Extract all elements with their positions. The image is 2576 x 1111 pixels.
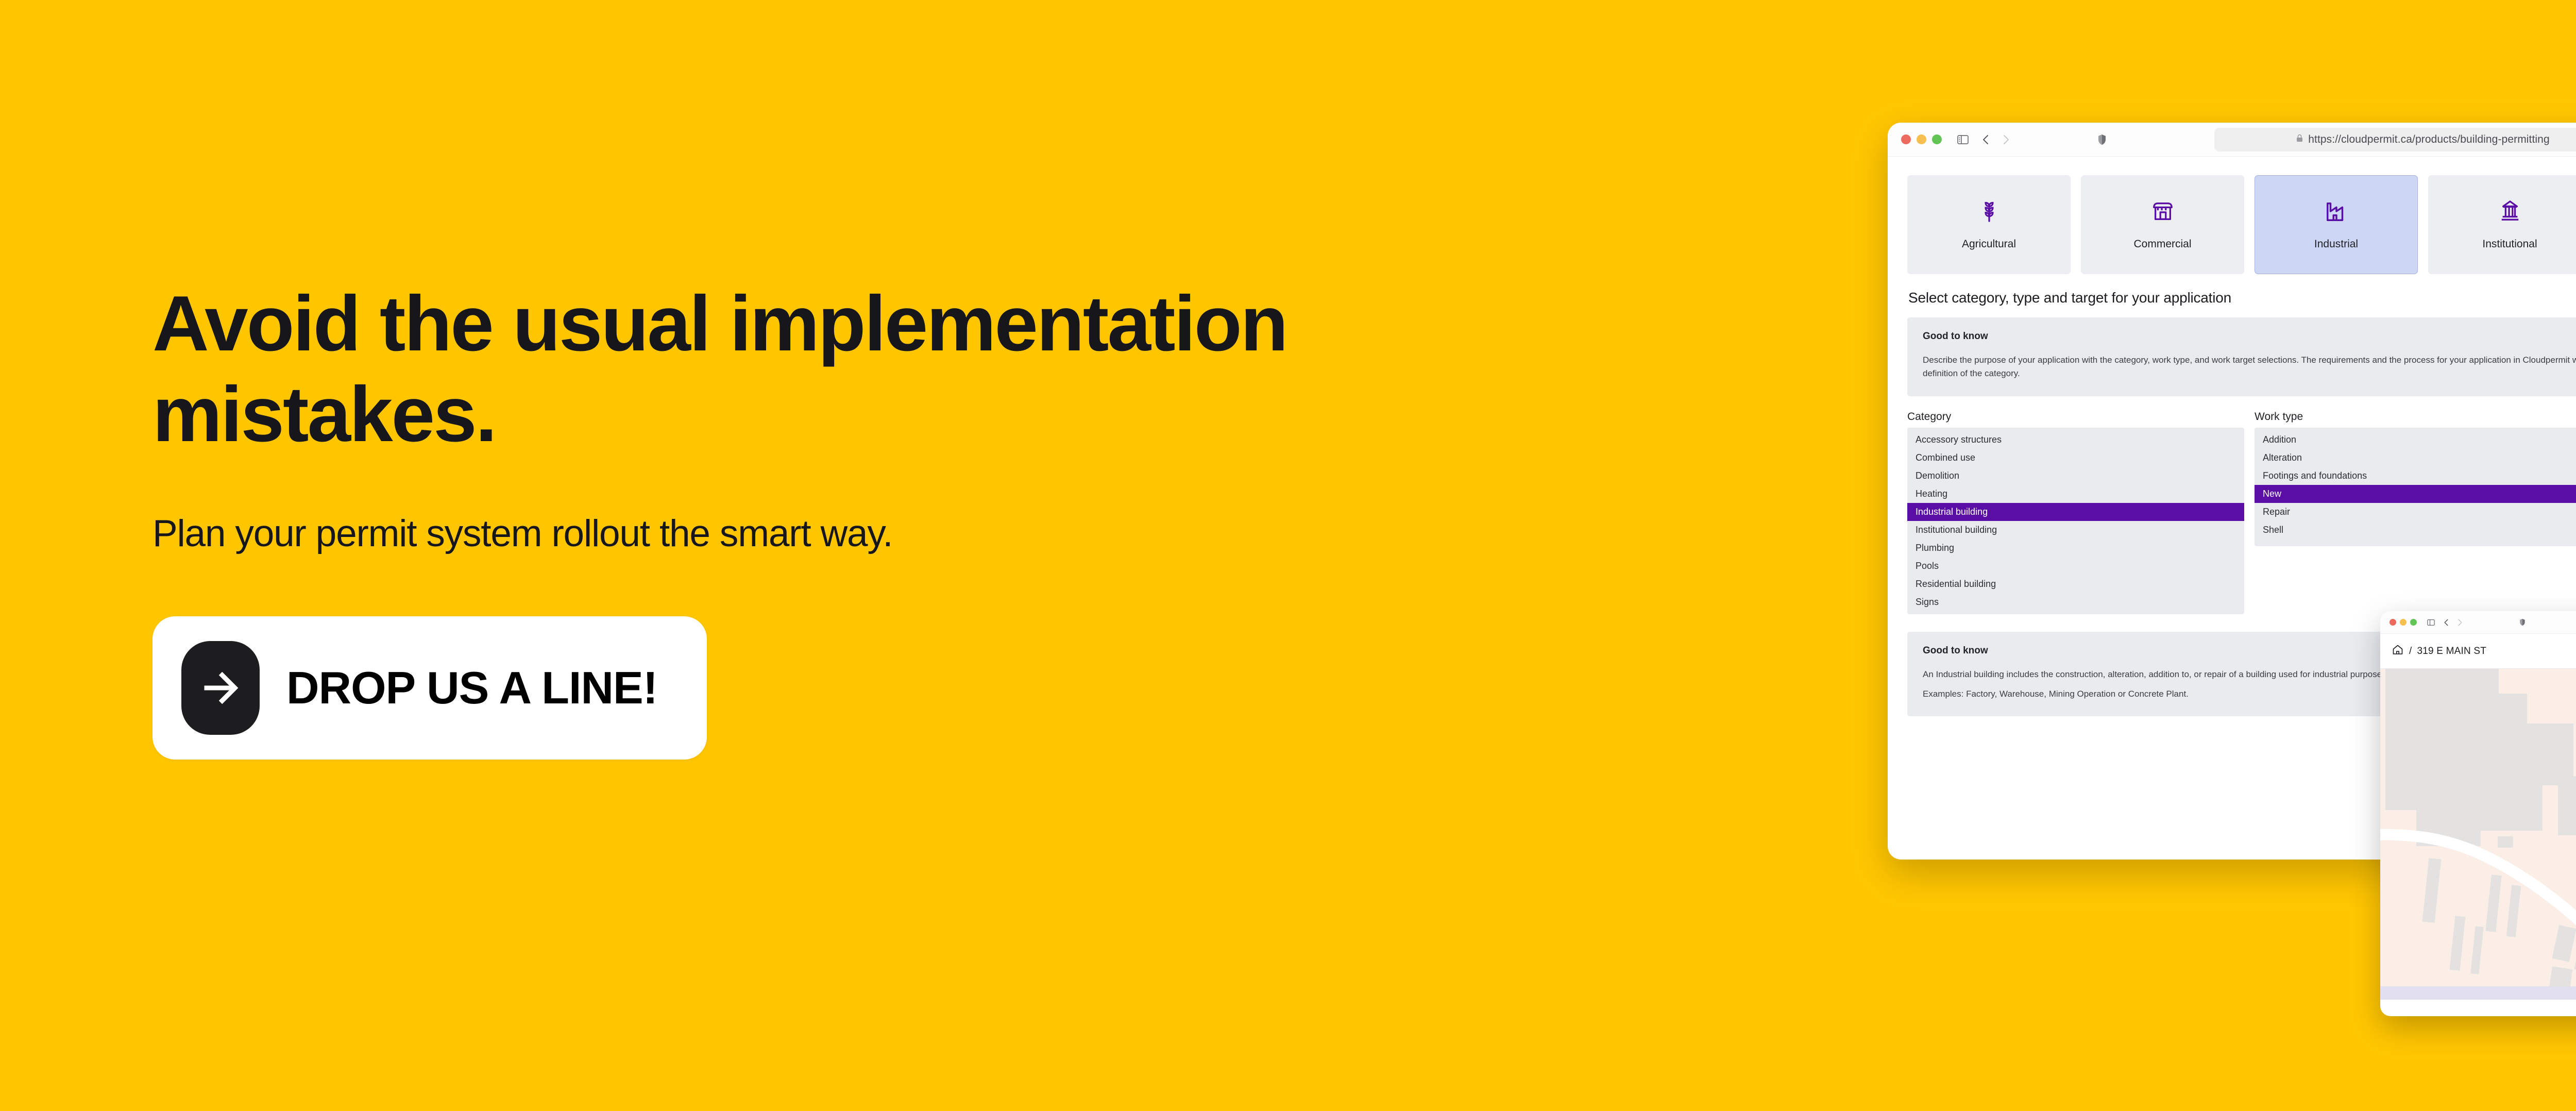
list-item[interactable]: Pools xyxy=(1907,557,2244,575)
sidebar-toggle-icon[interactable] xyxy=(1957,135,1969,144)
promo-block: Avoid the usual implementation mistakes.… xyxy=(152,278,1647,760)
page-subtitle: Plan your permit system rollout the smar… xyxy=(152,510,1647,559)
category-card-commercial[interactable]: Commercial xyxy=(2081,175,2244,274)
address-bar[interactable]: https://cloudpermit.ca/products/building… xyxy=(2214,128,2576,151)
list-item[interactable]: Accessory structures xyxy=(1907,431,2244,449)
chevron-right-icon xyxy=(2003,134,2010,145)
cta-label: DROP US A LINE! xyxy=(286,662,657,714)
list-item[interactable]: Alteration xyxy=(2255,449,2576,467)
list-item[interactable]: Residential building xyxy=(1907,575,2244,593)
arrow-right-icon xyxy=(181,641,260,735)
breadcrumb-separator: / xyxy=(2409,646,2412,657)
maximize-icon[interactable] xyxy=(2410,619,2417,626)
map-footer-bar xyxy=(2380,986,2576,1000)
column-category: Category Accessory structures Combined u… xyxy=(1907,411,2244,614)
app-breadcrumb-bar: / 319 E MAIN ST MORE ACTIONS xyxy=(2380,634,2576,669)
good-to-know-title: Good to know xyxy=(1923,331,2576,342)
section-title: Select category, type and target for you… xyxy=(1888,288,2576,317)
category-label: Agricultural xyxy=(1962,238,2016,250)
list-item[interactable]: Addition xyxy=(2255,431,2576,449)
page-title: Avoid the usual implementation mistakes. xyxy=(152,278,1554,460)
drop-us-a-line-button[interactable]: DROP US A LINE! xyxy=(152,616,707,760)
map-canvas[interactable]: Elkins Ave 4th St Franklin Ave E Main St… xyxy=(2380,669,2576,1000)
lock-icon xyxy=(2296,134,2303,145)
breadcrumb-address: 319 E MAIN ST xyxy=(2417,646,2486,657)
category-label: Commercial xyxy=(2133,238,2191,250)
close-icon[interactable] xyxy=(1901,134,1911,144)
window-traffic-lights[interactable] xyxy=(2389,619,2417,626)
browser-window-map: https://cloudpermit.ca/products/building… xyxy=(2380,611,2576,1016)
column-header: Category xyxy=(1907,411,2244,423)
museum-icon xyxy=(2498,199,2522,226)
window-traffic-lights[interactable] xyxy=(1901,134,1942,144)
list-item[interactable]: Repair xyxy=(2255,503,2576,521)
list-item[interactable]: Plumbing xyxy=(1907,539,2244,557)
column-header: Work type xyxy=(2255,411,2576,423)
list-item[interactable]: Demolition xyxy=(1907,467,2244,485)
chevron-right-icon xyxy=(2458,619,2463,626)
list-item[interactable]: Heating xyxy=(1907,485,2244,503)
selection-columns: Category Accessory structures Combined u… xyxy=(1888,396,2576,614)
privacy-shield-icon[interactable] xyxy=(2519,618,2526,626)
map-vector-layer xyxy=(2380,669,2576,1000)
close-icon[interactable] xyxy=(2389,619,2396,626)
storefront-icon xyxy=(2151,199,2175,226)
category-card-institutional[interactable]: Institutional xyxy=(2428,175,2576,274)
column-work-type: Work type Addition Alteration Footings a… xyxy=(2255,411,2576,614)
category-card-industrial[interactable]: Industrial xyxy=(2255,175,2418,274)
good-to-know-body: Describe the purpose of your application… xyxy=(1923,353,2576,381)
list-item[interactable]: Combined use xyxy=(1907,449,2244,467)
category-label: Industrial xyxy=(2314,238,2358,250)
category-label: Institutional xyxy=(2482,238,2537,250)
list-item[interactable]: Institutional building xyxy=(1907,521,2244,539)
privacy-shield-icon[interactable] xyxy=(2097,134,2107,145)
home-icon[interactable] xyxy=(2392,644,2404,659)
chevron-left-icon[interactable] xyxy=(2444,619,2449,626)
chevron-left-icon[interactable] xyxy=(1982,134,1989,145)
browser-toolbar-map: https://cloudpermit.ca/products/building… xyxy=(2380,611,2576,634)
category-list[interactable]: Accessory structures Combined use Demoli… xyxy=(1907,428,2244,614)
list-item-selected[interactable]: Industrial building xyxy=(1907,503,2244,521)
breadcrumb[interactable]: / 319 E MAIN ST xyxy=(2392,644,2486,659)
wheat-icon xyxy=(1977,199,2001,226)
good-to-know-top: Good to know Describe the purpose of you… xyxy=(1907,317,2576,396)
minimize-icon[interactable] xyxy=(1917,134,1926,144)
url-text: https://cloudpermit.ca/products/building… xyxy=(2308,133,2550,146)
list-item[interactable]: Signs xyxy=(1907,593,2244,611)
browser-toolbar: https://cloudpermit.ca/products/building… xyxy=(1888,123,2576,157)
list-item[interactable]: Shell xyxy=(2255,521,2576,539)
minimize-icon[interactable] xyxy=(2400,619,2406,626)
maximize-icon[interactable] xyxy=(1932,134,1942,144)
list-item[interactable]: Footings and foundations xyxy=(2255,467,2576,485)
list-item-selected[interactable]: New xyxy=(2255,485,2576,503)
category-card-agricultural[interactable]: Agricultural xyxy=(1907,175,2071,274)
factory-icon xyxy=(2325,199,2348,226)
sidebar-toggle-icon[interactable] xyxy=(2427,619,2435,626)
category-card-row: Agricultural Commercial Industrial xyxy=(1888,157,2576,288)
work-type-list[interactable]: Addition Alteration Footings and foundat… xyxy=(2255,428,2576,546)
